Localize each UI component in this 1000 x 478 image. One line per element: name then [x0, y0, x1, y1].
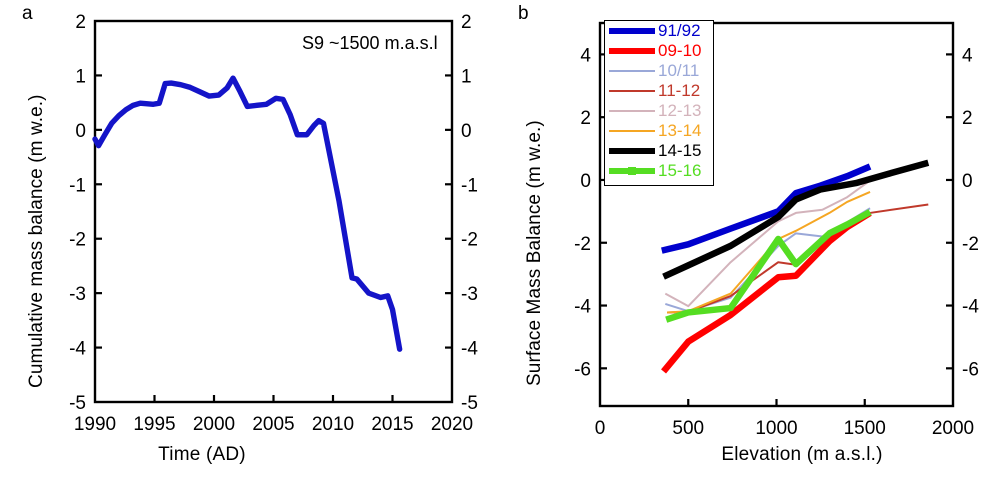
legend-item-14-15[interactable]: 14-15	[605, 141, 713, 161]
xtick-label: 2005	[252, 414, 294, 435]
legend-label: 15-16	[658, 162, 701, 180]
legend-label: 13-14	[658, 122, 701, 140]
panel-a: a S9 ~1500 m.a.s.l Time (AD) Cumulative …	[0, 0, 500, 478]
legend-label: 11-12	[658, 82, 700, 100]
legend-label: 10/11	[658, 62, 699, 80]
panel-b-legend: 91/9209-1010/1111-1212-1313-1414-1515-16	[604, 20, 714, 186]
ytick-label-left: -5	[69, 393, 86, 414]
xtick-label: 2020	[431, 414, 473, 435]
ytick-label-left: -1	[69, 175, 86, 196]
panel-b-plot: 0500100015002000442200-2-2-4-4-6-6	[500, 0, 1000, 478]
panel-b: b Elevation (m a.s.l.) Surface Mass Bala…	[500, 0, 1000, 478]
legend-item-15-16[interactable]: 15-16	[605, 161, 713, 181]
ytick-label-right: -4	[461, 339, 478, 360]
xtick-label: 2015	[371, 414, 413, 435]
legend-swatch-icon	[609, 64, 655, 78]
ytick-label-right: 2	[461, 12, 472, 33]
xtick-label: 500	[672, 418, 704, 439]
legend-label: 09-10	[658, 42, 701, 60]
ytick-label-right: -1	[461, 175, 478, 196]
ytick-label-left: -4	[69, 339, 86, 360]
ytick-label-left: -2	[69, 230, 86, 251]
ytick-label-right: 4	[962, 45, 973, 66]
panel-a-plot: 1990199520002005201020152020221100-1-1-2…	[0, 0, 500, 478]
xtick-label: 1990	[74, 414, 116, 435]
series-line-cumulative-mass-balance	[95, 78, 400, 349]
series-line-15-16	[666, 212, 870, 320]
legend-item-12-13[interactable]: 12-13	[605, 101, 713, 121]
legend-label: 12-13	[658, 102, 701, 120]
legend-item-09-10[interactable]: 09-10	[605, 41, 713, 61]
ytick-label-right: -4	[962, 297, 979, 318]
xtick-label: 1000	[755, 418, 797, 439]
ytick-label-right: -6	[962, 359, 979, 380]
ytick-label-left: -6	[574, 359, 591, 380]
ytick-label-left: 1	[75, 66, 86, 87]
ytick-label-right: -3	[461, 284, 478, 305]
legend-swatch-icon	[609, 124, 655, 138]
legend-item-10-11[interactable]: 10/11	[605, 61, 713, 81]
legend-label: 14-15	[658, 142, 701, 160]
ytick-label-right: -2	[962, 234, 979, 255]
xtick-label: 2010	[312, 414, 354, 435]
xtick-label: 2000	[193, 414, 235, 435]
legend-swatch-icon	[609, 164, 655, 178]
ytick-label-left: 0	[75, 121, 86, 142]
legend-item-11-12[interactable]: 11-12	[605, 81, 713, 101]
legend-label: 91/92	[658, 22, 701, 40]
ytick-label-right: -5	[461, 393, 478, 414]
ytick-label-left: 0	[580, 171, 591, 192]
legend-item-91-92[interactable]: 91/92	[605, 21, 713, 41]
xtick-label: 1500	[844, 418, 886, 439]
series-line-09-10	[664, 213, 871, 372]
xtick-label: 1995	[133, 414, 175, 435]
legend-swatch-icon	[609, 104, 655, 118]
ytick-label-left: -4	[574, 297, 591, 318]
ytick-label-left: 2	[75, 12, 86, 33]
xtick-label: 0	[595, 418, 606, 439]
ytick-label-left: 2	[580, 108, 591, 129]
ytick-label-right: 2	[962, 108, 973, 129]
ytick-label-right: -2	[461, 230, 478, 251]
legend-item-13-14[interactable]: 13-14	[605, 121, 713, 141]
figure-root: a S9 ~1500 m.a.s.l Time (AD) Cumulative …	[0, 0, 1000, 478]
ytick-label-right: 0	[962, 171, 973, 192]
legend-swatch-icon	[609, 24, 655, 38]
ytick-label-right: 0	[461, 121, 472, 142]
xtick-label: 2000	[932, 418, 974, 439]
ytick-label-left: -3	[69, 284, 86, 305]
legend-swatch-icon	[609, 84, 655, 98]
legend-marker-icon	[628, 167, 636, 175]
legend-swatch-icon	[609, 144, 655, 158]
legend-swatch-icon	[609, 44, 655, 58]
ytick-label-left: -2	[574, 234, 591, 255]
ytick-label-right: 1	[461, 66, 472, 87]
ytick-label-left: 4	[580, 45, 591, 66]
